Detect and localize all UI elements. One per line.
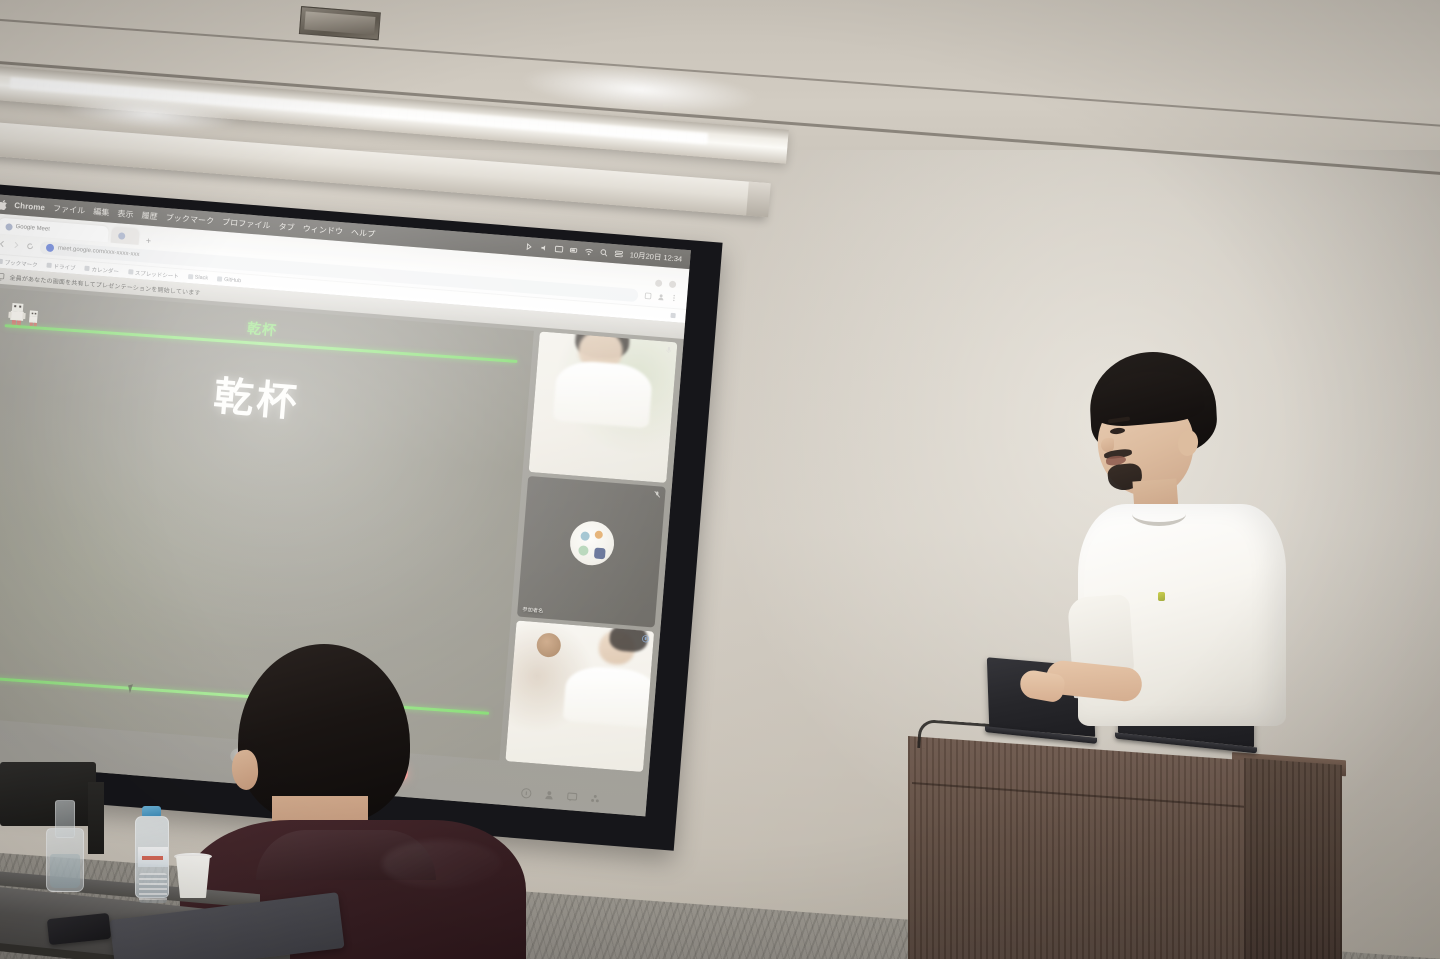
bookmark-item[interactable]: カレンダー	[84, 264, 119, 275]
bottle-body	[135, 816, 169, 898]
bookmark-label: GitHub	[224, 276, 242, 283]
podium	[908, 714, 1338, 959]
extension-icon[interactable]	[644, 292, 653, 301]
site-info-icon[interactable]	[46, 244, 55, 253]
bottle-label-accent	[142, 856, 163, 860]
menubar-app-name[interactable]: Chrome	[14, 201, 45, 212]
bookmark-label: Slack	[194, 274, 208, 281]
search-icon[interactable]	[600, 248, 610, 258]
bookmark-item[interactable]: ドライブ	[46, 261, 76, 271]
mic-on-icon	[641, 635, 650, 644]
presenter	[1062, 352, 1302, 732]
bottle-ribs	[139, 873, 167, 903]
conference-room-scene: Chrome ファイル 編集 表示 履歴 ブックマーク プロファイル タブ ウィ…	[0, 0, 1440, 959]
water-bottle[interactable]	[134, 806, 168, 896]
bookmark-favicon	[128, 269, 133, 274]
carafe-body	[46, 828, 84, 892]
reload-icon[interactable]	[26, 242, 35, 251]
mic-muted-icon	[653, 490, 662, 499]
avatar-mark	[594, 548, 606, 560]
bookmark-label: カレンダー	[91, 265, 119, 275]
bookmark-favicon	[188, 274, 193, 279]
minimize-icon[interactable]	[655, 279, 663, 287]
forward-icon[interactable]	[12, 241, 21, 250]
activities-icon[interactable]	[589, 793, 601, 805]
wifi-icon[interactable]	[585, 247, 595, 257]
menu-edit[interactable]: 編集	[93, 206, 110, 218]
menu-bookmarks[interactable]: ブックマーク	[165, 212, 214, 227]
avatar-mark	[578, 545, 589, 556]
podium-side-panel	[1244, 758, 1342, 959]
menu-icon[interactable]	[670, 294, 679, 303]
presentation-icon	[0, 271, 5, 281]
profile-icon[interactable]	[657, 293, 666, 302]
avatar-mark	[580, 531, 590, 541]
shirt-logo	[1158, 592, 1165, 601]
avatar-mark	[594, 530, 603, 539]
glass-carafe[interactable]	[46, 800, 82, 892]
chat-icon[interactable]	[566, 791, 578, 803]
menu-window[interactable]: ウィンドウ	[302, 223, 343, 237]
meeting-controls	[520, 787, 601, 804]
menubar-clock[interactable]: 10月20日 12:34	[629, 249, 682, 264]
browser-tab[interactable]	[111, 227, 140, 245]
menu-help[interactable]: ヘルプ	[351, 227, 376, 240]
mic-on-icon	[665, 345, 674, 354]
podium-front-panel	[908, 736, 1248, 959]
screen-share-icon[interactable]	[555, 244, 565, 254]
menu-view[interactable]: 表示	[117, 208, 134, 220]
table-post	[88, 782, 104, 854]
participant-tile[interactable]	[505, 620, 654, 772]
participant-tile[interactable]: 参加者名	[517, 476, 666, 628]
chevron-down-icon[interactable]	[670, 313, 675, 318]
menu-profiles[interactable]: プロファイル	[222, 217, 271, 232]
bluetooth-icon[interactable]	[525, 242, 535, 252]
people-icon[interactable]	[543, 789, 555, 801]
participant-tile[interactable]	[529, 331, 678, 483]
bookmark-favicon	[46, 263, 51, 268]
carafe-water	[50, 854, 80, 888]
bookmark-item[interactable]: ブックマーク	[0, 257, 38, 268]
bookmark-item[interactable]: スプレッドシート	[128, 268, 179, 280]
menu-history[interactable]: 履歴	[141, 210, 158, 222]
avatar-thumbnail	[536, 632, 562, 658]
presenter-collar	[1132, 502, 1186, 526]
meet-favicon	[5, 223, 13, 231]
bookmarks-overflow[interactable]	[670, 313, 675, 318]
browser-toolbar	[644, 292, 679, 303]
torso	[563, 665, 654, 728]
paper-cup[interactable]	[176, 856, 210, 898]
hoodie-highlight	[382, 840, 502, 888]
tab-favicon	[118, 232, 126, 240]
back-icon[interactable]	[0, 240, 6, 249]
new-tab-button[interactable]: +	[146, 237, 152, 246]
roller-end-cap	[746, 182, 771, 218]
bookmark-favicon	[84, 266, 89, 271]
control-center-icon[interactable]	[614, 249, 624, 259]
vent-face	[304, 11, 375, 35]
volume-icon[interactable]	[540, 243, 550, 253]
torso	[553, 359, 654, 428]
bookmark-label: ブックマーク	[4, 258, 38, 269]
bookmark-favicon	[217, 276, 222, 281]
avatar	[568, 520, 615, 567]
maximize-icon[interactable]	[669, 281, 677, 289]
bookmark-label: ドライブ	[53, 262, 76, 272]
tab-title: Google Meet	[15, 224, 50, 233]
participant-rail: 参加者名	[505, 331, 677, 772]
bookmark-favicon	[0, 259, 3, 264]
battery-icon[interactable]	[570, 246, 580, 256]
bookmark-label: スプレッドシート	[135, 268, 180, 280]
participant-name: 参加者名	[522, 606, 543, 615]
menu-tab[interactable]: タブ	[278, 221, 295, 233]
apple-icon[interactable]	[0, 199, 8, 210]
menu-file[interactable]: ファイル	[53, 203, 86, 217]
bookmark-item[interactable]: Slack	[187, 273, 208, 281]
bottle-label	[138, 847, 168, 867]
address-bar-text: meet.google.com/xxx-xxxx-xxx	[58, 245, 140, 258]
bookmark-item[interactable]: GitHub	[217, 276, 242, 284]
